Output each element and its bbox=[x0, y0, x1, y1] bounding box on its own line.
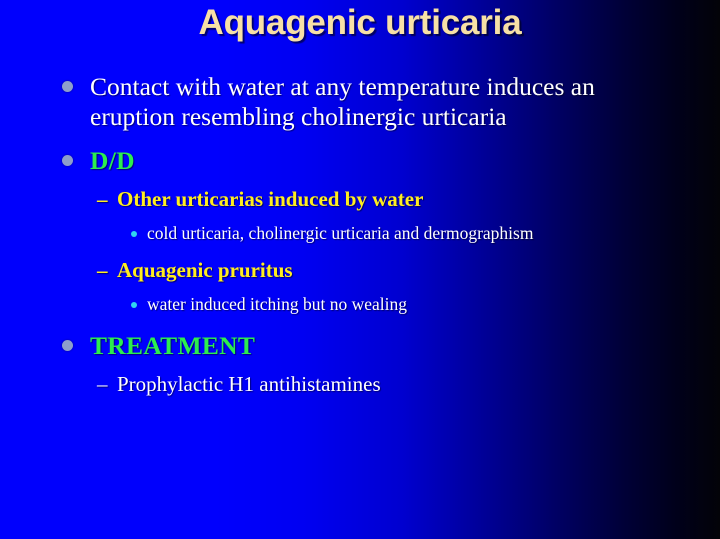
small-bullet-dot-icon bbox=[131, 293, 147, 308]
subbullet-aquagenic-pruritus-label: Aquagenic pruritus bbox=[117, 257, 293, 284]
presentation-slide: Aquagenic urticaria Contact with water a… bbox=[0, 0, 720, 539]
bullet-dot-icon bbox=[62, 146, 90, 166]
bullet-dot-icon bbox=[62, 72, 90, 92]
small-bullet-dot-icon bbox=[131, 222, 147, 237]
subsubbullet-water-induced-itching-label: water induced itching but no wealing bbox=[147, 293, 407, 316]
slide-body: Contact with water at any temperature in… bbox=[0, 72, 720, 399]
dash-marker-icon: – bbox=[97, 186, 117, 213]
subsubbullet-cold-urticaria-label: cold urticaria, cholinergic urticaria an… bbox=[147, 222, 533, 245]
subsubbullet-cold-urticaria: cold urticaria, cholinergic urticaria an… bbox=[0, 222, 720, 245]
subbullet-prophylactic-antihistamines-label: Prophylactic H1 antihistamines bbox=[117, 371, 381, 398]
bullet-dd: D/D bbox=[0, 146, 720, 176]
bullet-dot-icon bbox=[62, 331, 90, 351]
bullet-treatment-label: TREATMENT bbox=[90, 331, 255, 361]
subbullet-prophylactic-antihistamines: – Prophylactic H1 antihistamines bbox=[0, 371, 720, 398]
bullet-contact-with-water: Contact with water at any temperature in… bbox=[0, 72, 720, 132]
subsubbullet-water-induced-itching: water induced itching but no wealing bbox=[0, 293, 720, 316]
dash-marker-icon: – bbox=[97, 257, 117, 284]
bullet-contact-with-water-label: Contact with water at any temperature in… bbox=[90, 72, 650, 132]
subbullet-aquagenic-pruritus: – Aquagenic pruritus bbox=[0, 257, 720, 284]
bullet-dd-label: D/D bbox=[90, 146, 135, 176]
subbullet-other-urticarias-label: Other urticarias induced by water bbox=[117, 186, 423, 213]
subbullet-other-urticarias: – Other urticarias induced by water bbox=[0, 186, 720, 213]
dash-marker-icon: – bbox=[97, 371, 117, 398]
bullet-treatment: TREATMENT bbox=[0, 331, 720, 361]
slide-title: Aquagenic urticaria bbox=[0, 4, 720, 43]
